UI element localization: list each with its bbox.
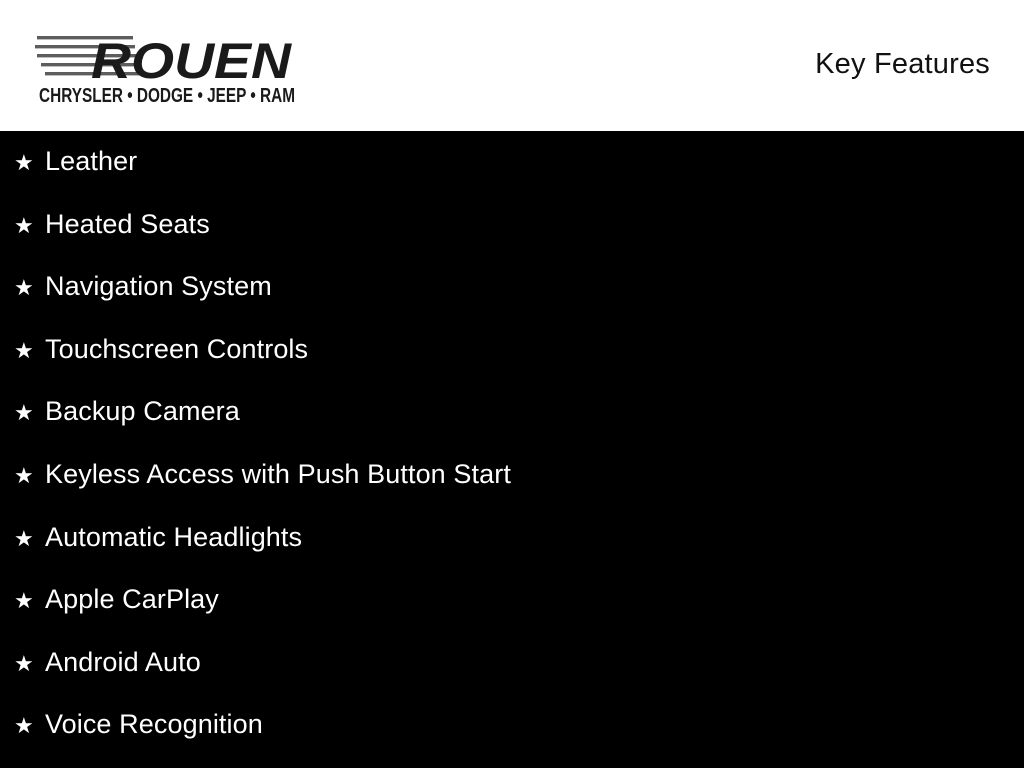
star-icon: ★ [14,402,45,424]
page-header: ROUEN CHRYSLER • DODGE • JEEP • RAM Key … [0,0,1024,131]
star-icon: ★ [14,528,45,550]
feature-label: Automatic Headlights [45,524,302,551]
feature-label: Android Auto [45,649,201,676]
star-icon: ★ [14,340,45,362]
logo-subtitle-text: CHRYSLER • DODGE • JEEP • RAM [39,85,295,106]
page-title: Key Features [815,50,990,81]
star-icon: ★ [14,653,45,675]
list-item[interactable]: ★ Keyless Access with Push Button Start [0,461,1024,524]
feature-label: Keyless Access with Push Button Start [45,461,511,488]
list-item[interactable]: ★ Leather [0,148,1024,211]
star-icon: ★ [14,715,45,737]
feature-label: Voice Recognition [45,711,263,738]
list-item[interactable]: ★ Backup Camera [0,398,1024,461]
feature-label: Backup Camera [45,398,240,425]
star-icon: ★ [14,590,45,612]
logo-brand-text: ROUEN [91,33,292,89]
list-item[interactable]: ★ Voice Recognition [0,711,1024,768]
feature-label: Touchscreen Controls [45,336,308,363]
feature-label: Leather [45,148,137,175]
star-icon: ★ [14,215,45,237]
list-item[interactable]: ★ Apple CarPlay [0,586,1024,649]
star-icon: ★ [14,465,45,487]
star-icon: ★ [14,152,45,174]
list-item[interactable]: ★ Heated Seats [0,211,1024,274]
key-features-list: ★ Leather ★ Heated Seats ★ Navigation Sy… [0,131,1024,768]
feature-label: Apple CarPlay [45,586,219,613]
star-icon: ★ [14,277,45,299]
list-item[interactable]: ★ Touchscreen Controls [0,336,1024,399]
feature-label: Heated Seats [45,211,210,238]
list-item[interactable]: ★ Android Auto [0,649,1024,712]
list-item[interactable]: ★ Navigation System [0,273,1024,336]
list-item[interactable]: ★ Automatic Headlights [0,524,1024,587]
dealership-logo[interactable]: ROUEN CHRYSLER • DODGE • JEEP • RAM [35,28,297,106]
feature-label: Navigation System [45,273,272,300]
key-features-page: ROUEN CHRYSLER • DODGE • JEEP • RAM Key … [0,0,1024,768]
